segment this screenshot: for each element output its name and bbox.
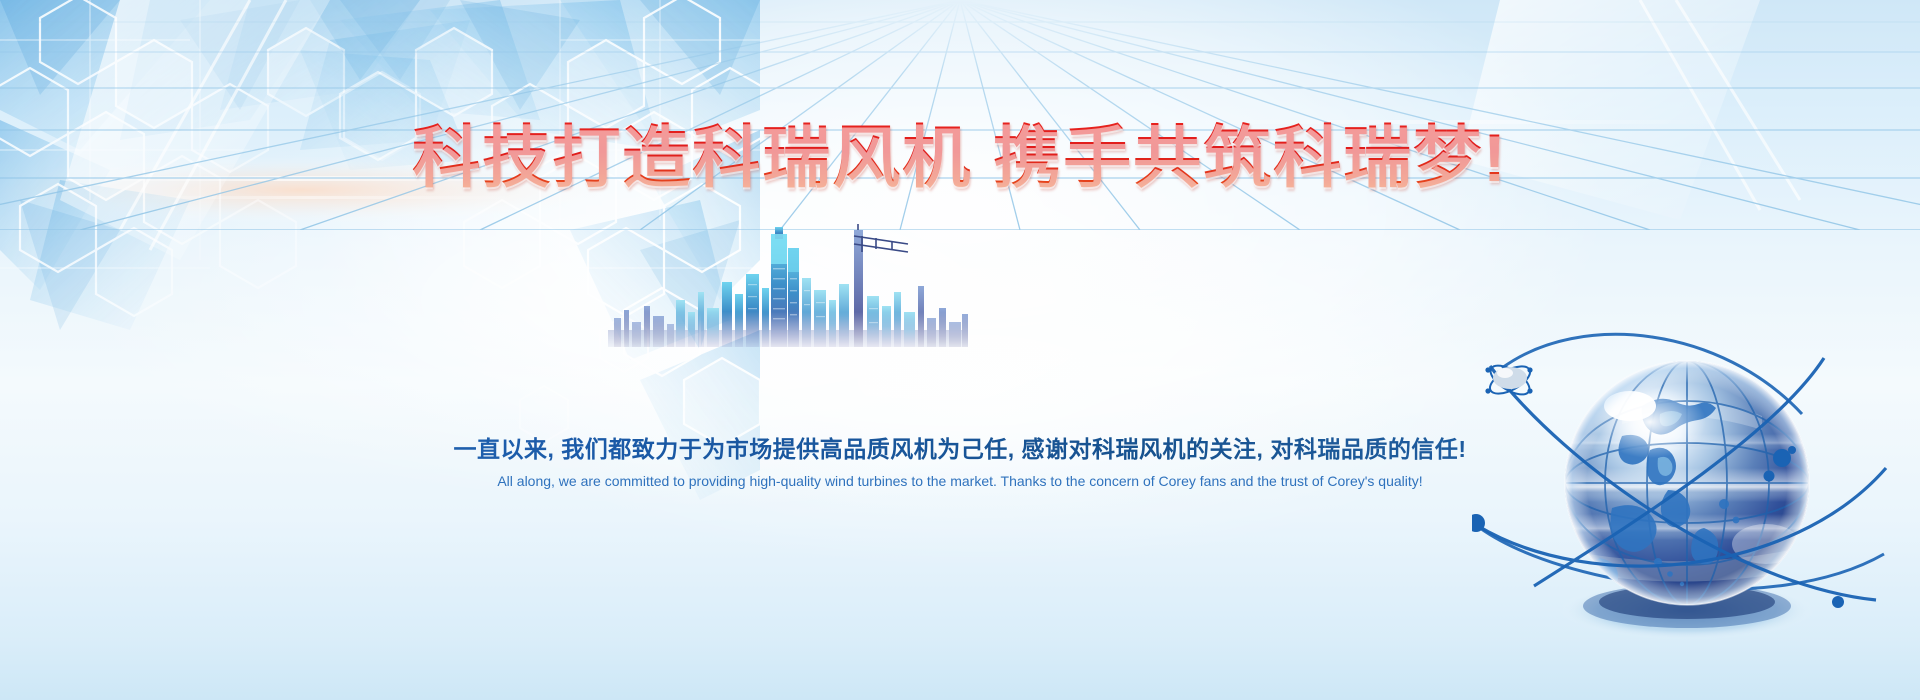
atom-icon xyxy=(1485,360,1534,400)
globe-graphic xyxy=(1472,318,1902,648)
banner-headline: 科技打造科瑞风机 携手共筑科瑞梦! xyxy=(0,118,1920,198)
city-skyline-graphic xyxy=(608,222,968,347)
promo-banner: 科技打造科瑞风机 携手共筑科瑞梦! 一直以来, 我们都致力于为市场提供高品质风机… xyxy=(0,0,1920,700)
hexagon-tech-pattern-left xyxy=(0,0,620,430)
